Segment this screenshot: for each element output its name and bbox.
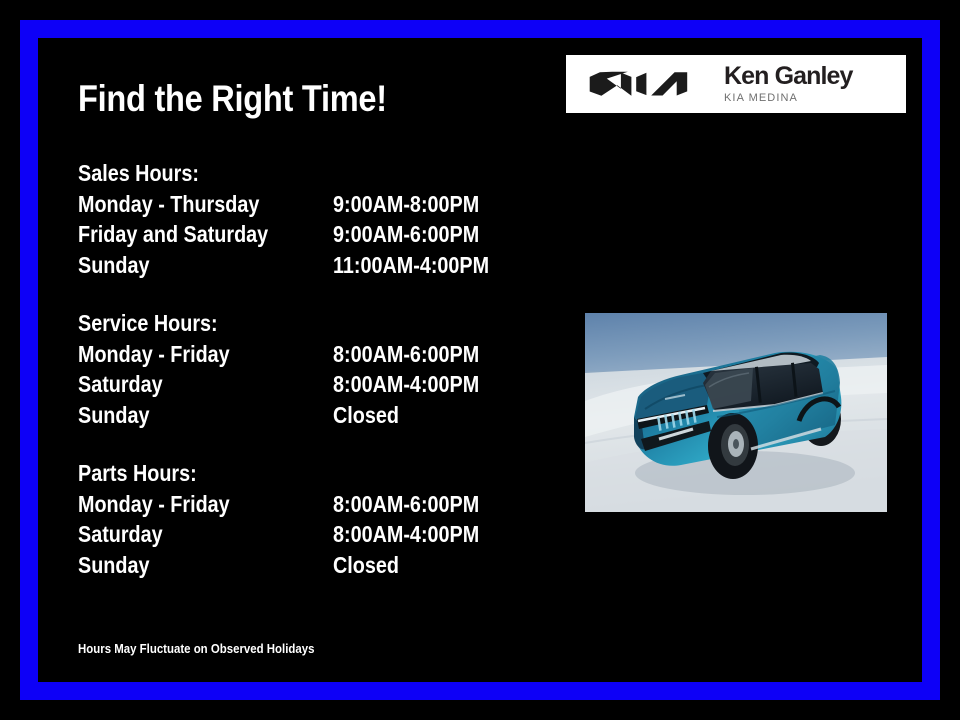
hours-group-service: Service Hours: Monday - Friday 8:00AM-6:… [78,308,548,430]
hours-group-heading: Service Hours: [78,308,482,339]
hours-row-time: Closed [333,400,399,431]
hours-row: Saturday 8:00AM-4:00PM [78,519,548,550]
hours-row-day: Sunday [78,250,149,281]
hours-row: Sunday Closed [78,400,548,431]
dealer-logo-panel: Ken Ganley KIA MEDINA [566,55,906,113]
hours-row-day: Monday - Thursday [78,189,259,220]
hours-row-day: Monday - Friday [78,339,230,370]
hours-group-parts: Parts Hours: Monday - Friday 8:00AM-6:00… [78,458,548,580]
vehicle-photo-illustration [585,313,887,512]
dealer-logo-text: Ken Ganley KIA MEDINA [724,63,892,105]
hours-row-day: Saturday [78,519,163,550]
hours-row: Monday - Thursday 9:00AM-8:00PM [78,189,548,220]
hours-row-time: 8:00AM-4:00PM [333,519,479,550]
hours-row-day: Sunday [78,400,149,431]
hours-row-time: 9:00AM-8:00PM [333,189,479,220]
hours-row: Monday - Friday 8:00AM-6:00PM [78,339,548,370]
slide-content: Find the Right Time! Sales Hours: Monday… [0,0,960,720]
hours-row-time: 9:00AM-6:00PM [333,219,479,250]
hours-row: Monday - Friday 8:00AM-6:00PM [78,489,548,520]
hours-row-time: 8:00AM-6:00PM [333,339,479,370]
kia-logo-icon [580,69,702,99]
page-title: Find the Right Time! [78,78,387,120]
hours-row: Sunday 11:00AM-4:00PM [78,250,548,281]
hours-row-time: Closed [333,550,399,581]
hours-group-heading: Parts Hours: [78,458,482,489]
hours-row-day: Friday and Saturday [78,219,268,250]
hours-row-day: Monday - Friday [78,489,230,520]
vehicle-photo [585,313,887,512]
slide: Find the Right Time! Sales Hours: Monday… [0,0,960,720]
hours-row: Saturday 8:00AM-4:00PM [78,369,548,400]
dealer-name: Ken Ganley [724,62,853,90]
hours-listing: Sales Hours: Monday - Thursday 9:00AM-8:… [78,158,548,580]
hours-group-heading: Sales Hours: [78,158,482,189]
hours-row-time: 11:00AM-4:00PM [333,250,489,281]
hours-row-day: Saturday [78,369,163,400]
hours-group-sales: Sales Hours: Monday - Thursday 9:00AM-8:… [78,158,548,280]
hours-row-time: 8:00AM-4:00PM [333,369,479,400]
hours-row: Friday and Saturday 9:00AM-6:00PM [78,219,548,250]
holiday-disclaimer: Hours May Fluctuate on Observed Holidays [78,641,314,656]
hours-row-day: Sunday [78,550,149,581]
dealer-subtitle: KIA MEDINA [724,92,798,104]
hours-row: Sunday Closed [78,550,548,581]
hours-row-time: 8:00AM-6:00PM [333,489,479,520]
